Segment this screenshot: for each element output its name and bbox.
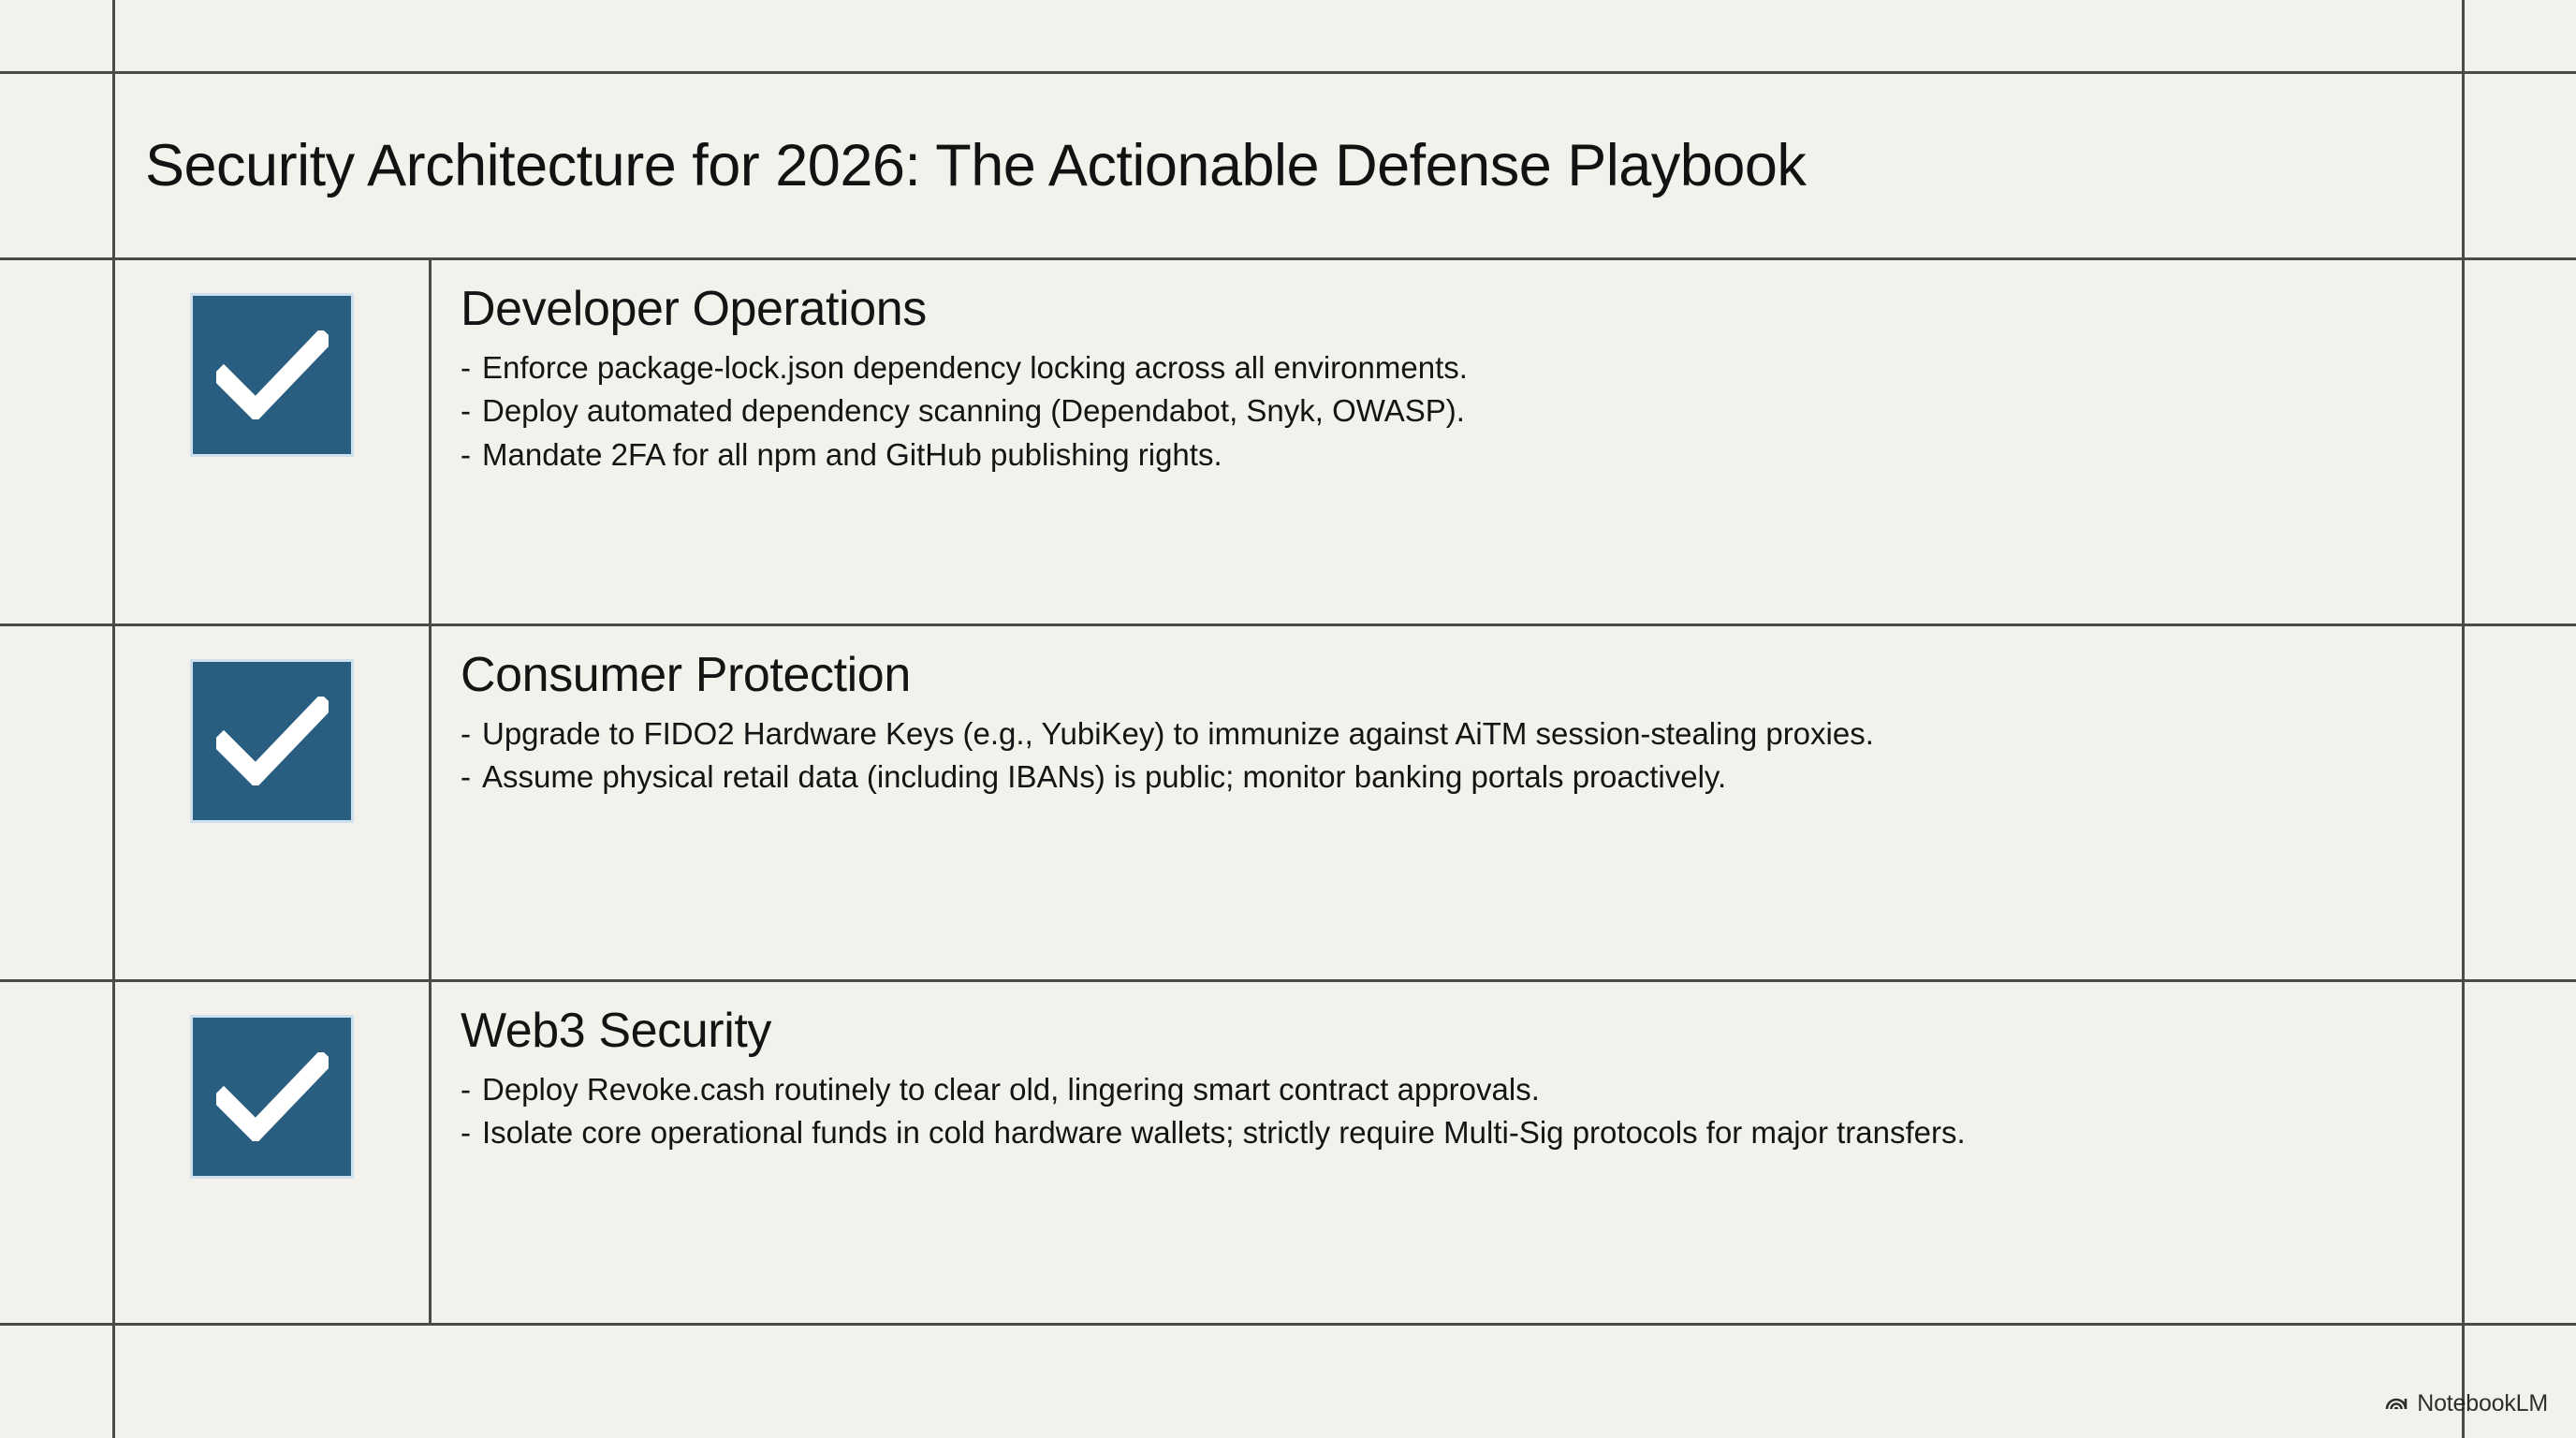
list-item: - Assume physical retail data (including…: [461, 759, 2462, 794]
checkbox-cell: [115, 626, 429, 823]
notebooklm-watermark: NotebookLM: [2384, 1390, 2548, 1417]
list-item: - Enforce package-lock.json dependency l…: [461, 350, 2462, 385]
bullet-marker: -: [461, 350, 471, 385]
list-item: - Deploy automated dependency scanning (…: [461, 393, 2462, 428]
bullet-marker: -: [461, 1115, 471, 1150]
list-item: - Upgrade to FIDO2 Hardware Keys (e.g., …: [461, 716, 2462, 751]
bullet-marker: -: [461, 1072, 471, 1107]
bullet-list: - Upgrade to FIDO2 Hardware Keys (e.g., …: [461, 716, 2462, 795]
section-body: Consumer Protection - Upgrade to FIDO2 H…: [429, 626, 2462, 803]
grid-line-vertical-right: [2462, 0, 2465, 1438]
list-item: - Mandate 2FA for all npm and GitHub pub…: [461, 437, 2462, 472]
notebooklm-logo-icon: [2384, 1390, 2408, 1417]
bullet-marker: -: [461, 716, 471, 751]
section-row: Web3 Security - Deploy Revoke.cash routi…: [115, 982, 2462, 1323]
grid-line-horizontal-bottom: [0, 1323, 2576, 1326]
section-row: Consumer Protection - Upgrade to FIDO2 H…: [115, 626, 2462, 979]
bullet-text: Assume physical retail data (including I…: [482, 759, 2354, 794]
section-heading: Consumer Protection: [461, 649, 2462, 701]
notebooklm-label: NotebookLM: [2417, 1390, 2548, 1417]
checkbox-checked-icon[interactable]: [190, 293, 354, 457]
list-item: - Isolate core operational funds in cold…: [461, 1115, 2462, 1150]
bullet-list: - Deploy Revoke.cash routinely to clear …: [461, 1072, 2462, 1151]
bullet-marker: -: [461, 393, 471, 428]
bullet-text: Isolate core operational funds in cold h…: [482, 1115, 2364, 1150]
bullet-marker: -: [461, 437, 471, 472]
section-heading: Web3 Security: [461, 1005, 2462, 1057]
section-body: Web3 Security - Deploy Revoke.cash routi…: [429, 982, 2462, 1159]
section-body: Developer Operations - Enforce package-l…: [429, 260, 2462, 480]
title-band: Security Architecture for 2026: The Acti…: [115, 74, 2462, 257]
checkbox-cell: [115, 260, 429, 457]
bullet-text: Mandate 2FA for all npm and GitHub publi…: [482, 437, 2462, 472]
section-row: Developer Operations - Enforce package-l…: [115, 260, 2462, 624]
checkbox-checked-icon[interactable]: [190, 1015, 354, 1179]
checkbox-checked-icon[interactable]: [190, 659, 354, 823]
bullet-marker: -: [461, 759, 471, 794]
bullet-text: Deploy Revoke.cash routinely to clear ol…: [482, 1072, 2364, 1107]
list-item: - Deploy Revoke.cash routinely to clear …: [461, 1072, 2462, 1107]
bullet-text: Deploy automated dependency scanning (De…: [482, 393, 2462, 428]
section-heading: Developer Operations: [461, 283, 2462, 335]
bullet-text: Upgrade to FIDO2 Hardware Keys (e.g., Yu…: [482, 716, 2354, 751]
slide-canvas: Security Architecture for 2026: The Acti…: [0, 0, 2576, 1438]
bullet-list: - Enforce package-lock.json dependency l…: [461, 350, 2462, 472]
checkbox-cell: [115, 982, 429, 1179]
page-title: Security Architecture for 2026: The Acti…: [115, 132, 1806, 199]
bullet-text: Enforce package-lock.json dependency loc…: [482, 350, 2462, 385]
